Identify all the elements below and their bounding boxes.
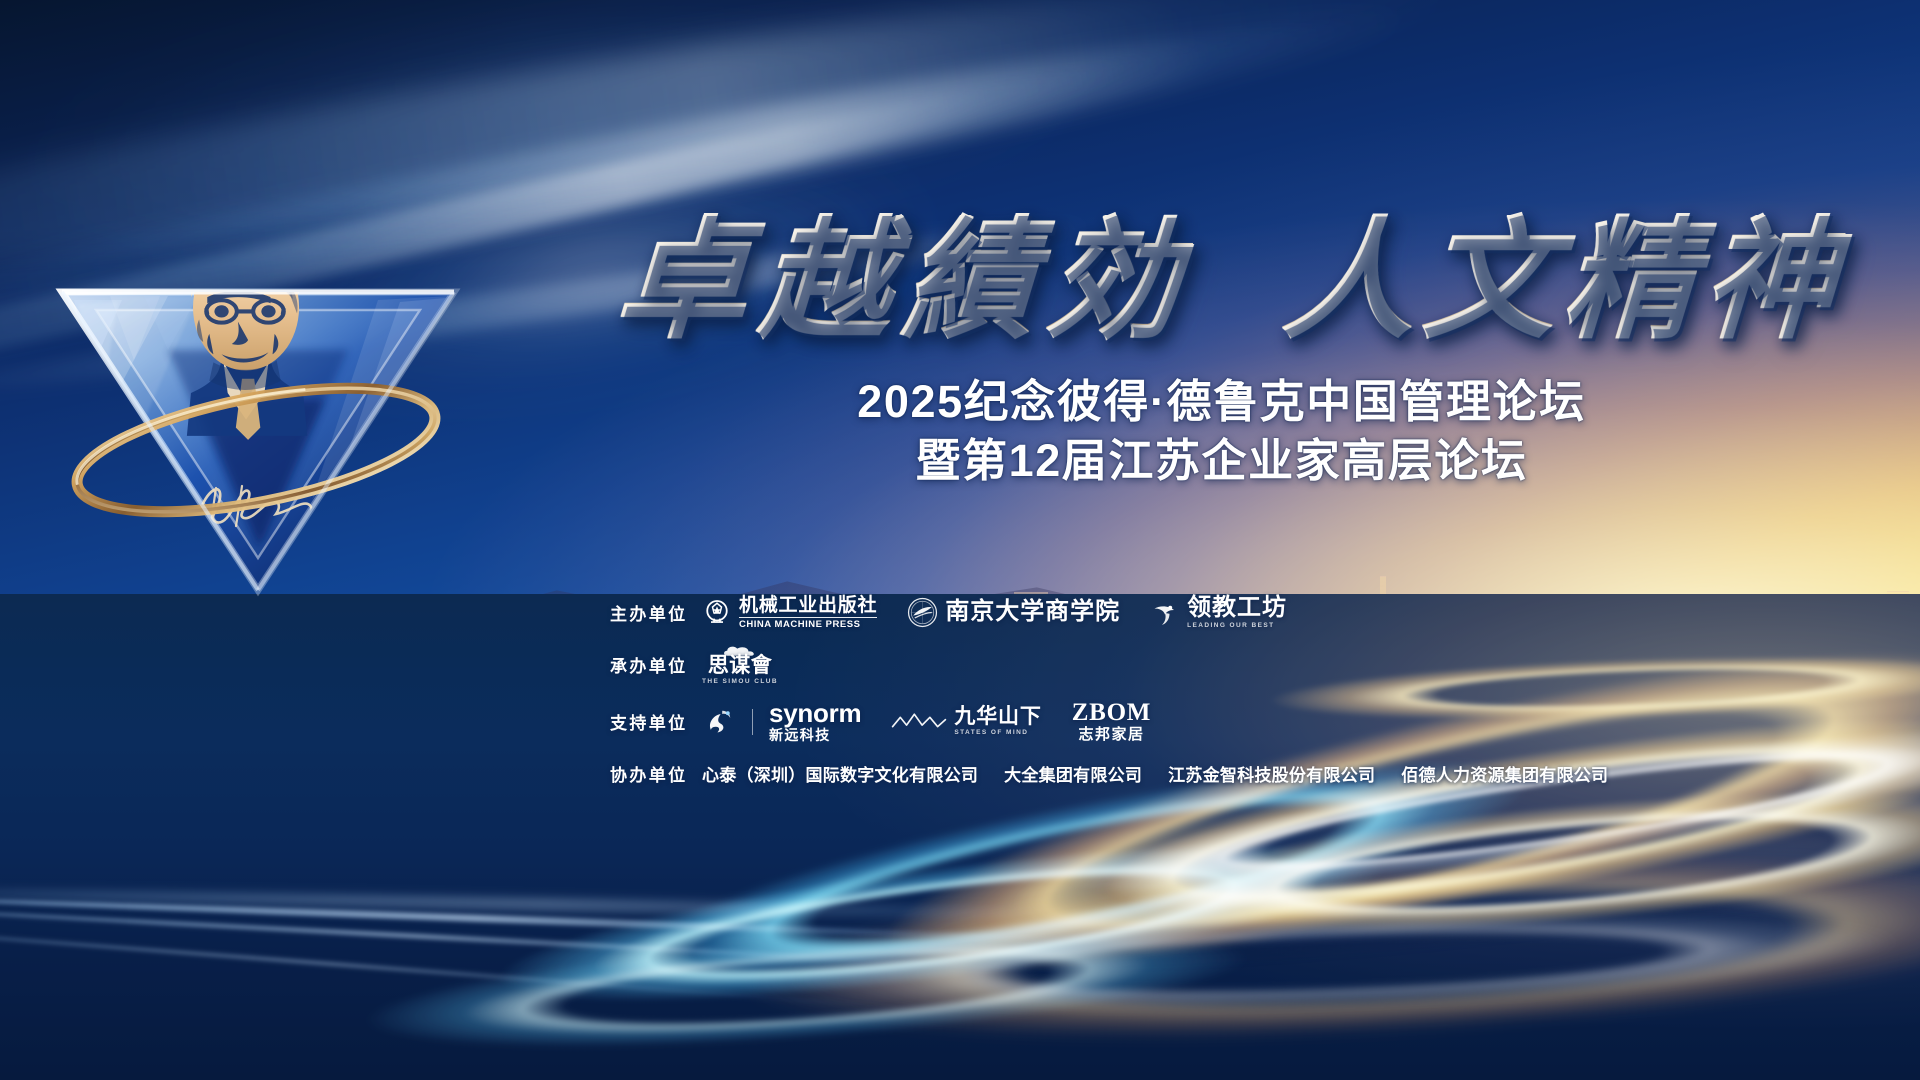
logo-china-machine-press: 机械工业出版社 CHINA MACHINE PRESS [702,596,877,630]
drucker-glass-triangle-emblem [48,200,468,600]
states-of-mind-name-cn: 九华山下 [954,706,1041,728]
cmp-name-en: CHINA MACHINE PRESS [739,620,877,630]
coorganizer-4: 佰德人力资源集团有限公司 [1401,761,1608,786]
coorganizer-3: 江苏金智科技股份有限公司 [1168,761,1375,786]
cmp-gear-star-icon [702,598,732,628]
zbom-name-cn: 志邦家居 [1078,727,1144,743]
lingjiao-gongfang-icon [1150,598,1180,628]
logo-states-of-mind: 九华山下 STATES OF MIND [891,706,1041,737]
states-of-mind-name-en: STATES OF MIND [954,730,1041,737]
poster-canvas: 卓越績効 人文精神 2025纪念彼得·德鲁克中国管理论坛 暨第12届江苏企业家高… [0,0,1920,1080]
sponsor-label-organizers: 主办单位 [610,600,702,625]
headline: 卓越績効 人文精神 [585,215,1850,347]
sponsor-row-host: 承办单位 思谋會 THE SIMOU CLUB [610,645,1900,686]
lingjiao-name-cn: 领教工坊 [1187,596,1287,621]
synorm-name-en: synorm [769,701,861,726]
sponsor-row-supporters: 支持单位 synorm 新远科技 [610,700,1900,743]
synorm-swirl-icon [702,706,736,738]
sponsor-row-coorganizers: 协办单位 心泰（深圳）国际数字文化有限公司 大全集团有限公司 江苏金智科技股份有… [610,758,1900,790]
subtitle: 2025纪念彼得·德鲁克中国管理论坛 暨第12届江苏企业家高层论坛 [585,373,1850,490]
nju-business-school-seal-icon [907,597,938,628]
sponsor-label-supporters: 支持单位 [610,709,702,734]
logo-nju-business-school: 南京大学商学院 [907,597,1120,628]
poster-text-block: 卓越績効 人文精神 2025纪念彼得·德鲁克中国管理论坛 暨第12届江苏企业家高… [585,215,1850,490]
divider [752,709,753,735]
logo-zbom: ZBOM 志邦家居 [1072,700,1151,743]
subtitle-line-2: 暨第12届江苏企业家高层论坛 [593,432,1850,491]
logo-synorm: synorm 新远科技 [702,701,861,743]
subtitle-line-1: 2025纪念彼得·德鲁克中国管理论坛 [593,373,1850,432]
headline-right: 人文精神 [1279,215,1846,347]
lingjiao-name-en: LEADING OUR BEST [1187,623,1287,630]
sponsor-section: 主办单位 机械工业出版社 [610,596,1900,790]
sponsor-label-coorganizers: 协办单位 [610,761,702,786]
logo-simouhui: 思谋會 THE SIMOU CLUB [702,645,778,686]
coorganizer-1: 心泰（深圳）国际数字文化有限公司 [702,761,978,786]
synorm-name-cn: 新远科技 [769,728,861,743]
coorganizer-list: 心泰（深圳）国际数字文化有限公司 大全集团有限公司 江苏金智科技股份有限公司 佰… [702,761,1608,786]
sponsor-label-host: 承办单位 [610,652,702,677]
simouhui-name-en: THE SIMOU CLUB [702,679,778,686]
cmp-name-cn: 机械工业出版社 [739,596,877,618]
simouhui-name-cn: 思谋會 [708,655,772,677]
headline-left: 卓越績効 [612,215,1194,347]
nju-name-cn: 南京大学商学院 [945,600,1120,625]
sponsor-row-organizers: 主办单位 机械工业出版社 [610,596,1900,630]
zbom-name-en: ZBOM [1072,700,1151,725]
logo-lingjiao-gongfang: 领教工坊 LEADING OUR BEST [1150,596,1287,630]
states-of-mind-peaks-icon [891,711,947,733]
coorganizer-2: 大全集团有限公司 [1004,761,1142,786]
